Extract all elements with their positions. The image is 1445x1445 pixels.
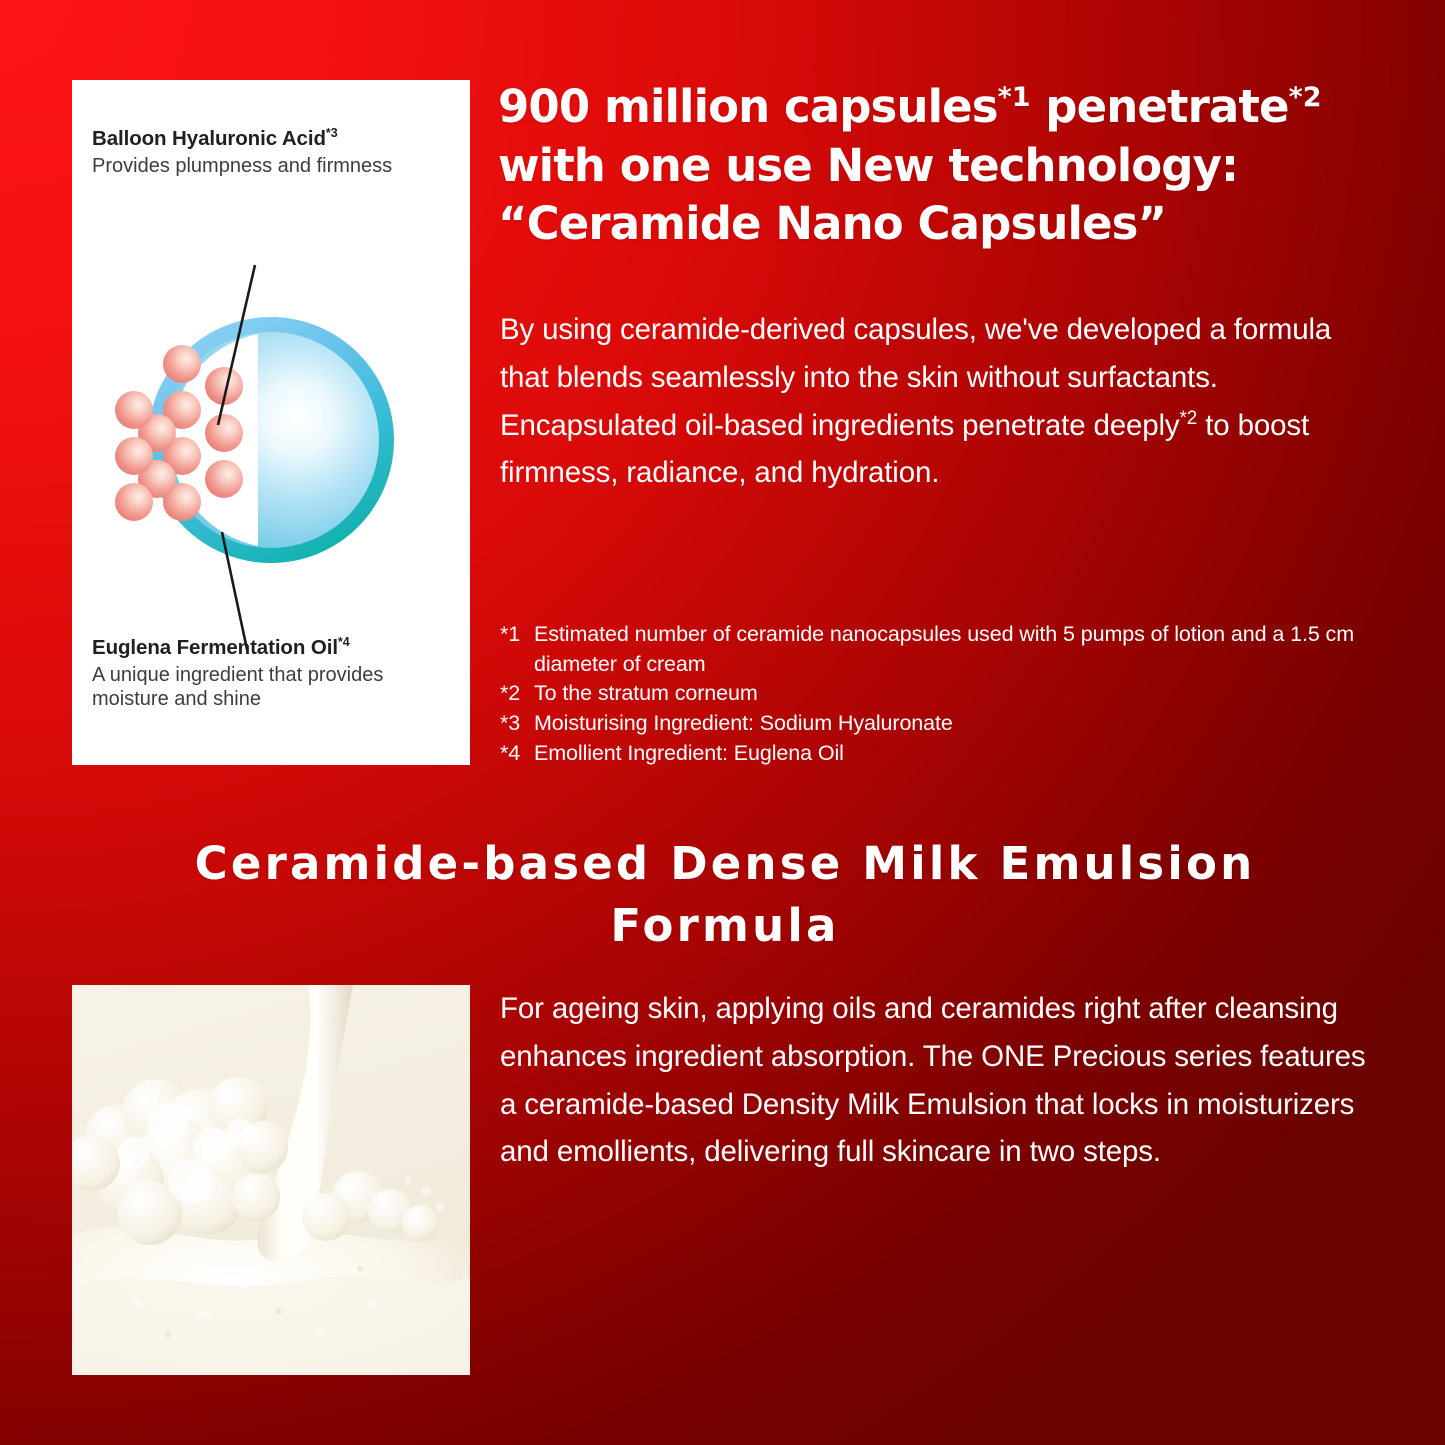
section-paragraph: For ageing skin, applying oils and ceram…	[500, 985, 1380, 1176]
footnote-item: *1 Estimated number of ceramide nanocaps…	[500, 620, 1370, 679]
footnote-marker: *1	[500, 620, 534, 650]
footnote-text: To the stratum corneum	[534, 679, 1370, 709]
footnote-list: *1 Estimated number of ceramide nanocaps…	[500, 620, 1370, 768]
footnote-marker: *3	[500, 709, 534, 739]
page-headline: 900 million capsules*1 penetrate*2 with …	[498, 78, 1398, 254]
ingredient-label-top: Balloon Hyaluronic Acid*3 Provides plump…	[92, 126, 460, 178]
section-heading: Ceramide-based Dense Milk Emulsion Formu…	[160, 833, 1290, 957]
ingredient-label-bottom-title-text: Euglena Fermentation Oil	[92, 636, 338, 659]
promo-page: Balloon Hyaluronic Acid*3 Provides plump…	[0, 0, 1445, 1445]
ingredient-label-top-title-superscript: *3	[326, 126, 338, 140]
ingredient-label-top-title-text: Balloon Hyaluronic Acid	[92, 127, 326, 150]
footnote-text: Emollient Ingredient: Euglena Oil	[534, 739, 1370, 769]
ingredient-diagram-card: Balloon Hyaluronic Acid*3 Provides plump…	[72, 80, 470, 765]
ingredient-label-bottom: Euglena Fermentation Oil*4 A unique ingr…	[92, 635, 460, 711]
ingredient-label-top-title: Balloon Hyaluronic Acid*3	[92, 126, 460, 152]
headline-superscript-1: *1	[998, 82, 1031, 113]
ingredient-label-bottom-description: A unique ingredient that provides moistu…	[92, 663, 460, 712]
headline-segment-3: with one use New technology: “Ceramide N…	[498, 139, 1238, 251]
footnote-item: *4 Emollient Ingredient: Euglena Oil	[500, 739, 1370, 769]
ingredient-label-bottom-title-superscript: *4	[338, 635, 350, 649]
ceramide-nano-capsule-diagram	[72, 250, 470, 650]
lead-paragraph: By using ceramide-derived capsules, we'v…	[500, 306, 1370, 497]
lead-paragraph-superscript: *2	[1180, 408, 1198, 429]
milk-pouring-photo	[72, 985, 470, 1375]
footnote-marker: *2	[500, 679, 534, 709]
footnote-item: *2 To the stratum corneum	[500, 679, 1370, 709]
headline-superscript-2: *2	[1289, 82, 1322, 113]
footnote-text: Moisturising Ingredient: Sodium Hyaluron…	[534, 709, 1370, 739]
ingredient-label-top-description: Provides plumpness and firmness	[92, 154, 460, 178]
footnote-text: Estimated number of ceramide nanocapsule…	[534, 620, 1370, 679]
footnote-marker: *4	[500, 739, 534, 769]
footnote-item: *3 Moisturising Ingredient: Sodium Hyalu…	[500, 709, 1370, 739]
headline-segment-2: penetrate	[1031, 80, 1289, 133]
ingredient-label-bottom-title: Euglena Fermentation Oil*4	[92, 635, 460, 661]
headline-segment-1: 900 million capsules	[498, 80, 998, 133]
